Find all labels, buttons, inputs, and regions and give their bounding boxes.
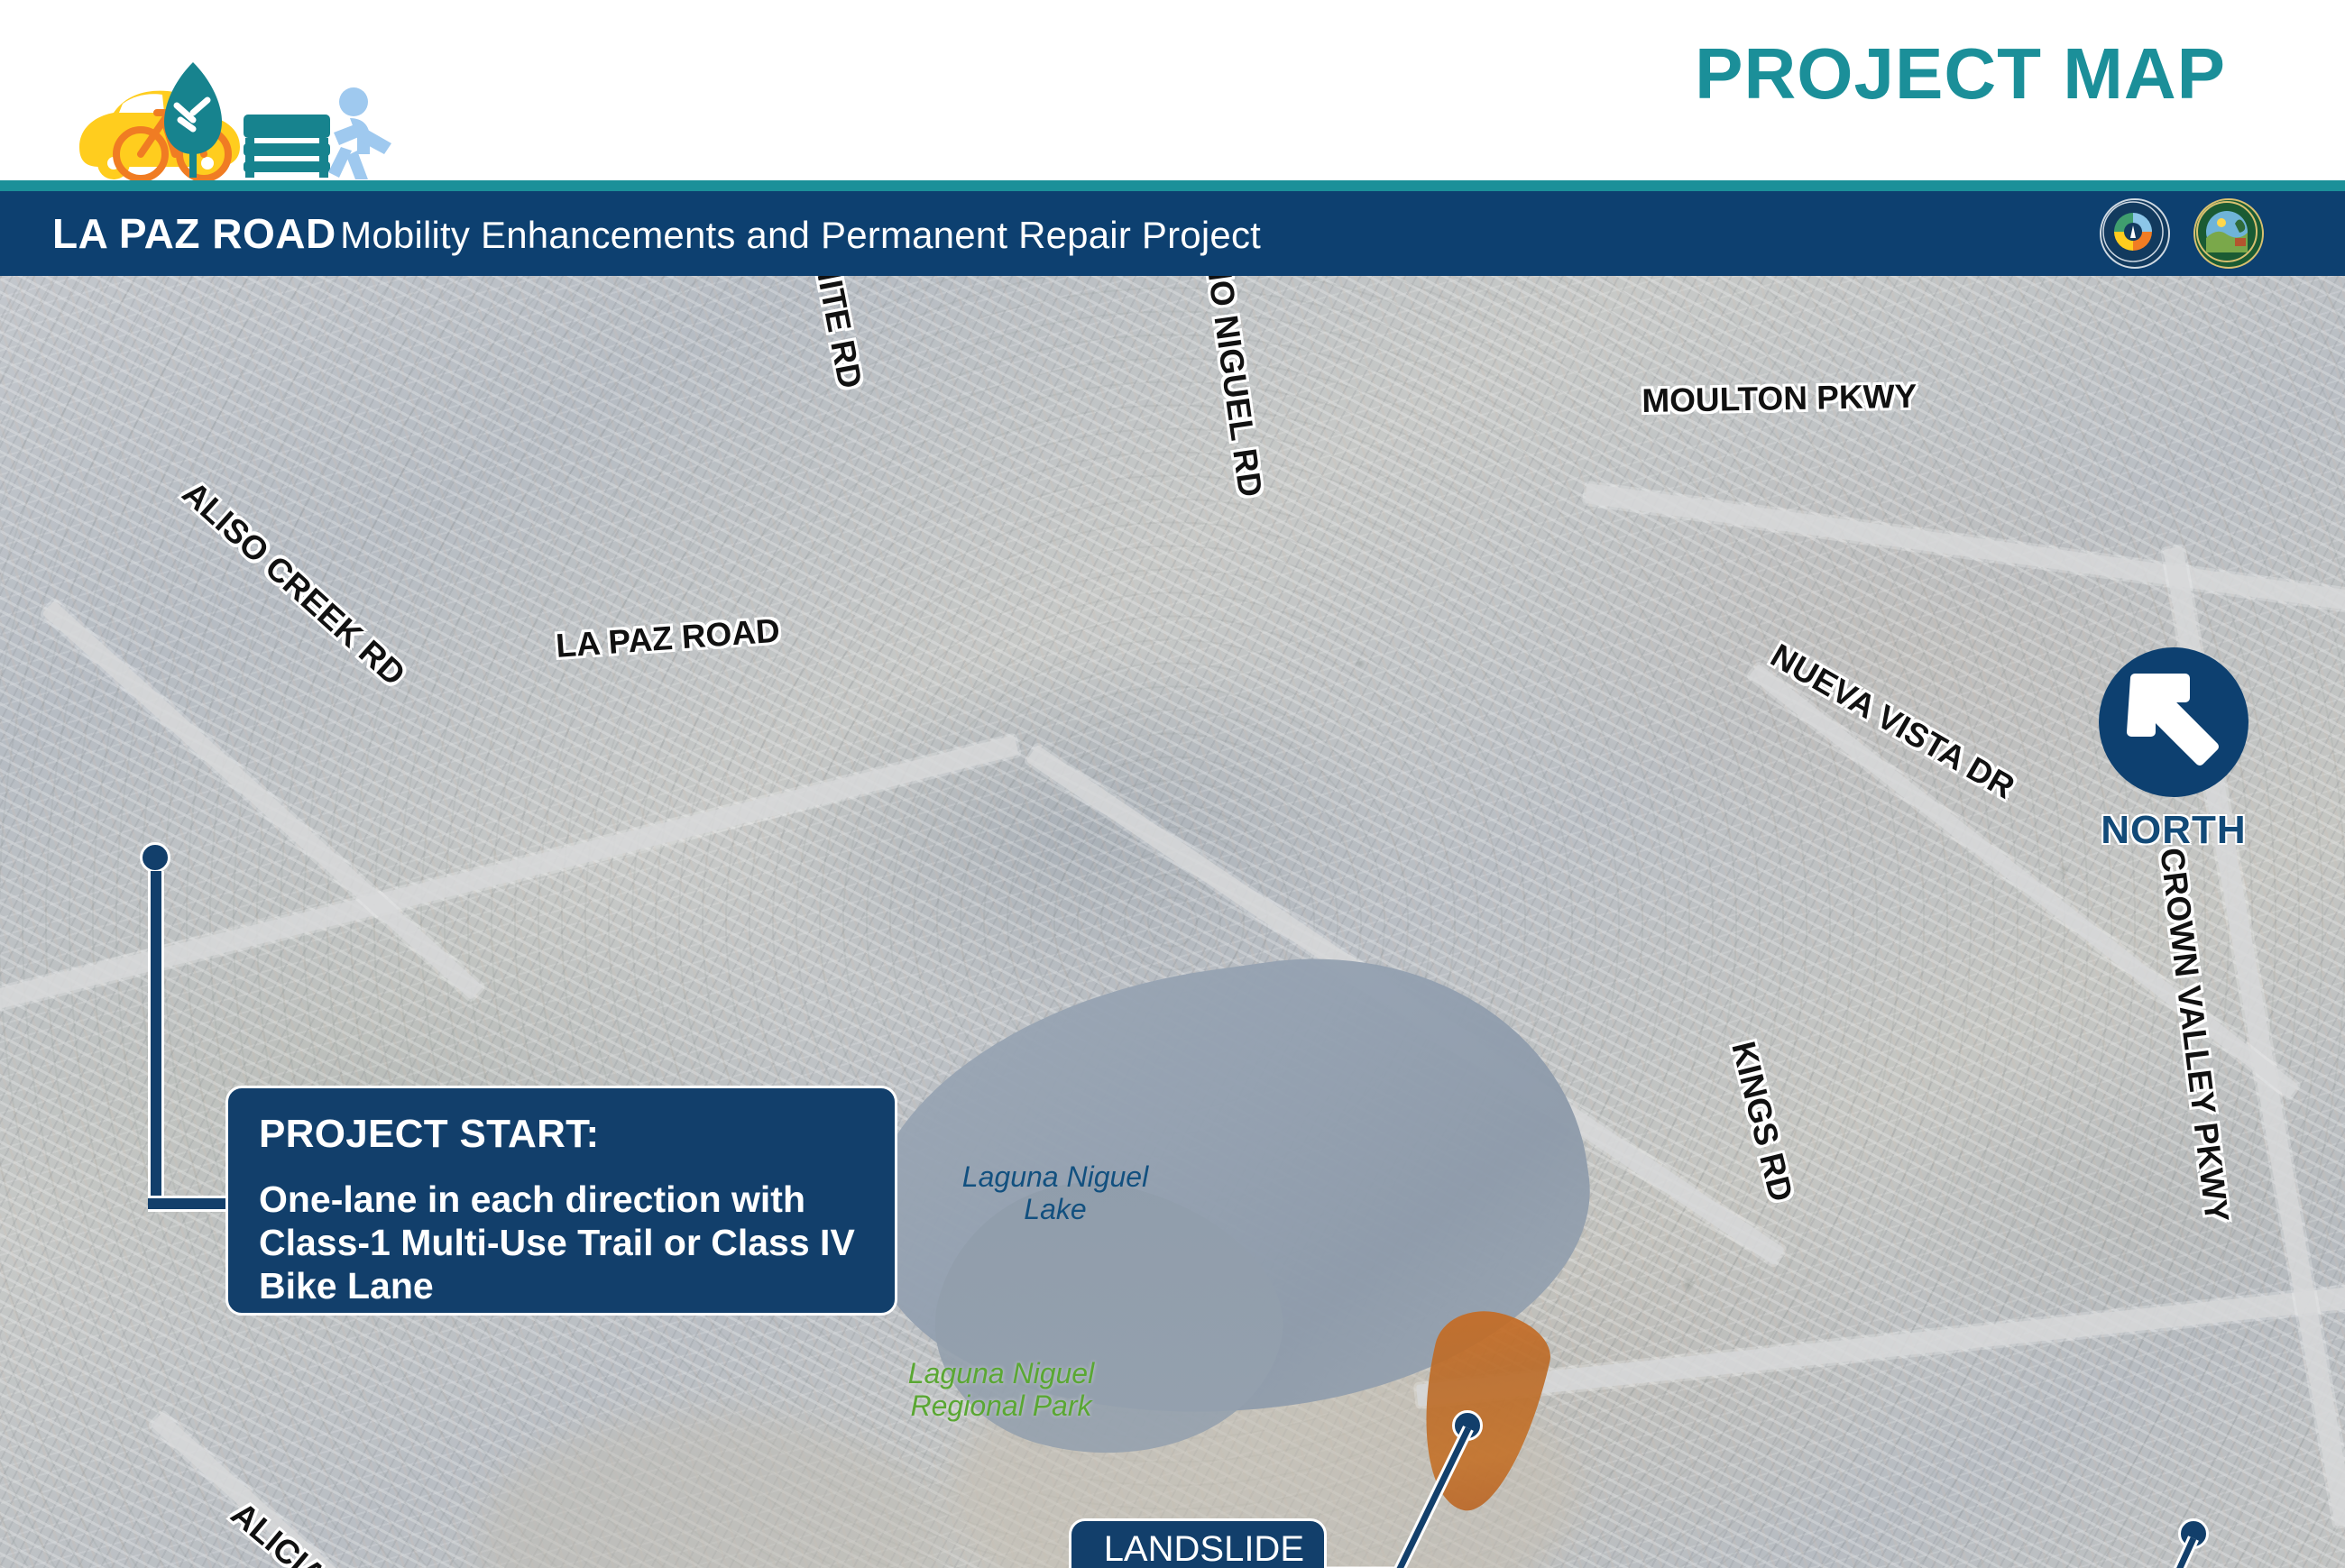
- pedestrian-icon: [328, 87, 391, 179]
- street-label-moulton-pkwy: MOULTON PKWY: [1641, 378, 1917, 420]
- landslide-leader-line: [1299, 1421, 1488, 1568]
- banner-road-name: LA PAZ ROAD: [52, 210, 336, 257]
- la-paz-road-project-seal-icon: [2100, 198, 2170, 269]
- banner-subtitle: Mobility Enhancements and Permanent Repa…: [340, 214, 1261, 256]
- bench-icon: [244, 115, 330, 178]
- project-start-leader-vertical: [148, 871, 164, 1206]
- banner-logos: [2100, 198, 2264, 269]
- project-map-page: PROJECT MAP LA PAZ ROAD Mobility Enhance…: [0, 0, 2345, 1568]
- project-banner: LA PAZ ROAD Mobility Enhancements and Pe…: [0, 191, 2345, 276]
- north-label: NORTH: [2083, 808, 2264, 853]
- city-of-laguna-niguel-seal-icon: [2193, 198, 2264, 269]
- place-label-laguna-niguel-lake: Laguna Niguel Lake: [929, 1161, 1182, 1226]
- mobility-icons-group: [63, 50, 442, 180]
- project-start-marker-dot[interactable]: [140, 842, 170, 873]
- project-start-callout[interactable]: PROJECT START: One-lane in each directio…: [225, 1086, 897, 1316]
- north-arrow-icon: [2099, 647, 2248, 797]
- project-start-callout-title: PROJECT START:: [259, 1114, 864, 1155]
- page-header: PROJECT MAP: [0, 0, 2345, 180]
- banner-text: LA PAZ ROAD Mobility Enhancements and Pe…: [52, 209, 1261, 258]
- project-end-leader-line: [2056, 1529, 2210, 1568]
- landslide-area-callout-title: LANDSLIDE AREA: [1091, 1530, 1304, 1568]
- teal-divider: [0, 180, 2345, 191]
- project-start-callout-body: One-lane in each direction with Class-1 …: [259, 1178, 864, 1308]
- landslide-area-callout[interactable]: LANDSLIDE AREA: [1069, 1518, 1327, 1568]
- place-label-laguna-niguel-regional-park: Laguna Niguel Regional Park: [866, 1358, 1136, 1423]
- north-compass: NORTH: [2083, 647, 2264, 853]
- page-title: PROJECT MAP: [1695, 38, 2226, 110]
- aerial-map[interactable]: ALISO CREEK RD YOSEMITE RD RANCHO NIGUEL…: [0, 276, 2345, 1568]
